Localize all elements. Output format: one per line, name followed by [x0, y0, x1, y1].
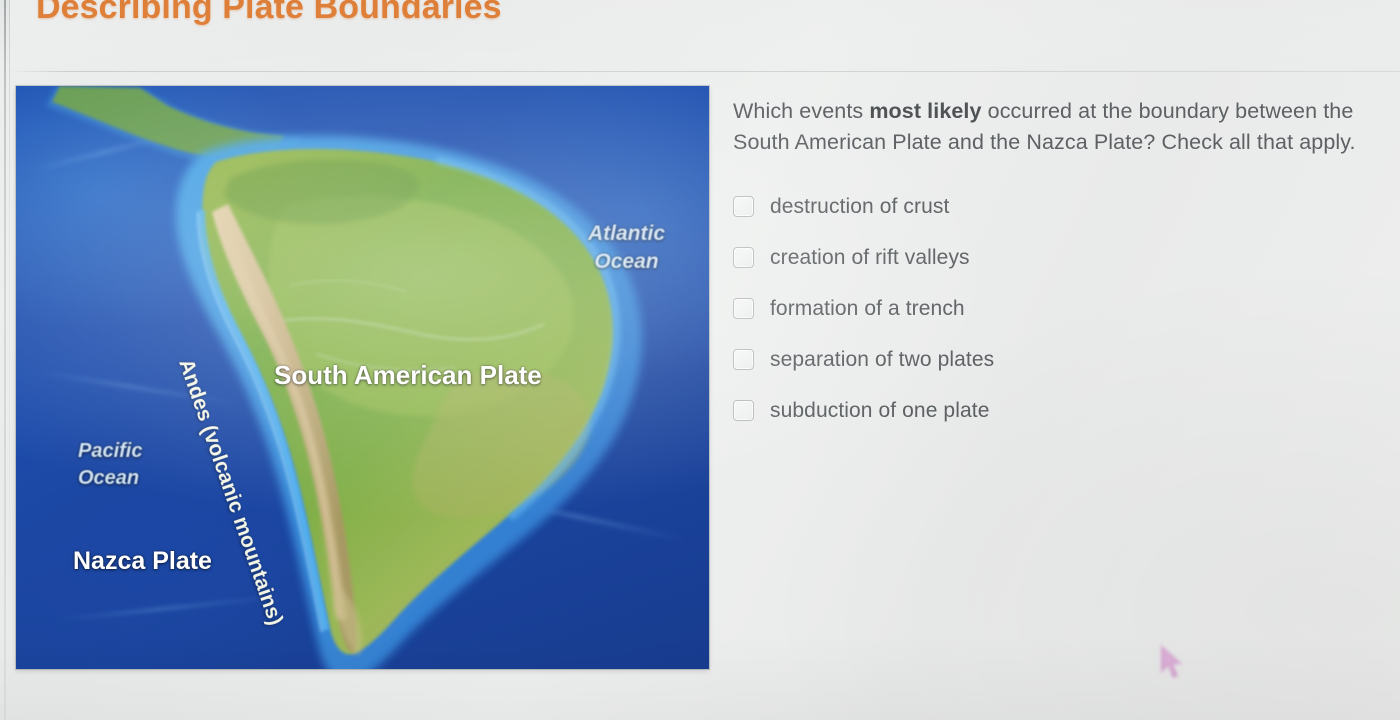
checkbox-creation-of-rift-valleys[interactable]	[733, 247, 754, 268]
option-label-formation-of-a-trench[interactable]: formation of a trench	[770, 297, 965, 321]
option-row-subduction-of-one-plate[interactable]: subduction of one plate	[733, 385, 1373, 436]
mouse-pointer-icon	[1157, 643, 1187, 687]
option-row-separation-of-two-plates[interactable]: separation of two plates	[733, 334, 1373, 385]
option-label-creation-of-rift-valleys[interactable]: creation of rift valleys	[770, 246, 970, 270]
option-row-destruction-of-crust[interactable]: destruction of crust	[733, 181, 1373, 232]
page-title: Describing Plate Boundaries	[36, 0, 502, 27]
option-label-subduction-of-one-plate[interactable]: subduction of one plate	[770, 399, 989, 423]
plate-boundary-map-figure: Atlantic Ocean Pacific Ocean Nazca Plate…	[16, 86, 709, 669]
south-america-landmass	[16, 86, 709, 669]
option-label-destruction-of-crust[interactable]: destruction of crust	[770, 195, 949, 219]
checkbox-subduction-of-one-plate[interactable]	[733, 400, 754, 421]
checkbox-formation-of-a-trench[interactable]	[733, 298, 754, 319]
checkbox-destruction-of-crust[interactable]	[733, 196, 754, 217]
screen-surface: Describing Plate Boundaries	[0, 0, 1400, 720]
question-prompt: Which events most likely occurred at the…	[733, 96, 1373, 158]
answer-options-list: destruction of crust creation of rift va…	[733, 181, 1373, 436]
question-prefix: Which events	[733, 99, 869, 123]
option-label-separation-of-two-plates[interactable]: separation of two plates	[770, 348, 994, 372]
screen-left-inner-line	[9, 0, 10, 720]
screen-left-bezel-line	[4, 0, 6, 720]
checkbox-separation-of-two-plates[interactable]	[733, 349, 754, 370]
option-row-creation-of-rift-valleys[interactable]: creation of rift valleys	[733, 232, 1373, 283]
header-divider	[10, 71, 1400, 72]
question-panel: Which events most likely occurred at the…	[733, 96, 1373, 452]
question-emphasis: most likely	[869, 99, 981, 123]
option-row-formation-of-a-trench[interactable]: formation of a trench	[733, 283, 1373, 334]
